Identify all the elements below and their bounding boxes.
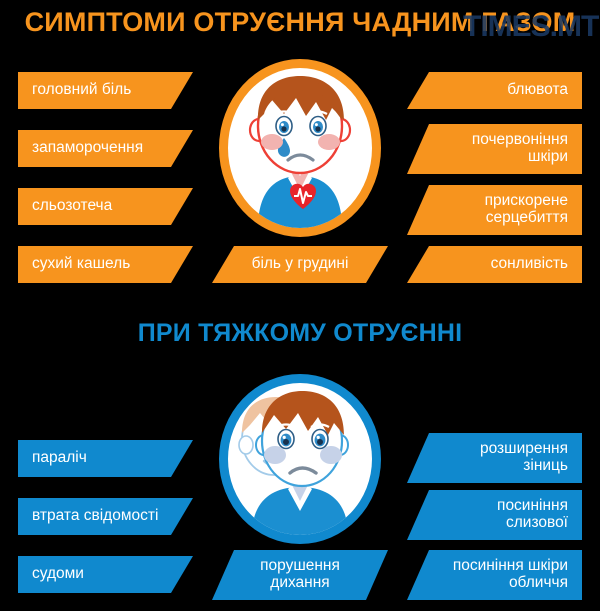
infographic-canvas: СИМПТОМИ ОТРУЄННЯ ЧАДНИМ ГАЗОМ TIMES.MT [0,0,600,611]
symptom-label: почервоніння шкіри [437,132,568,165]
symptom-bar-loss-of-consciousness[interactable]: втрата свідомості [18,498,193,535]
symptom-label: сухий кашель [32,256,163,273]
symptom-label: судоми [32,566,163,583]
symptom-label: головний біль [32,82,163,99]
symptom-bar-dilated-pupils[interactable]: розширення зіниць [407,433,582,483]
symptom-label: блювота [437,82,568,99]
symptom-label: запаморочення [32,140,163,157]
symptom-label: посиніння шкіри обличчя [437,558,568,591]
symptom-bar-skin-redness[interactable]: почервоніння шкіри [407,124,582,174]
fainting-boy-svg [228,383,372,535]
symptom-bar-rapid-heartbeat[interactable]: прискорене серцебиття [407,185,582,235]
symptom-bar-headache[interactable]: головний біль [18,72,193,109]
symptom-bar-lacrimation[interactable]: сльозотеча [18,188,193,225]
section-title-mild: СИМПТОМИ ОТРУЄННЯ ЧАДНИМ ГАЗОМ [0,7,600,38]
symptom-label: сонливість [437,256,568,273]
symptom-label: біль у грудині [234,256,366,273]
symptom-bar-vomiting[interactable]: блювота [407,72,582,109]
symptom-bar-chest-pain[interactable]: біль у грудині [212,246,388,283]
symptom-label: параліч [32,450,163,467]
symptom-bar-convulsions[interactable]: судоми [18,556,193,593]
fainting-boy-icon [219,374,381,544]
symptom-label: втрата свідомості [32,508,163,525]
symptom-label: розширення зіниць [437,441,568,474]
sad-boy-chest-pain-icon [219,59,381,237]
section-title-severe: ПРИ ТЯЖКОМУ ОТРУЄННІ [0,319,600,348]
symptom-label: посиніння слизової [437,498,568,531]
sad-boy-svg [228,68,372,228]
symptom-bar-mucosa-cyanosis[interactable]: посиніння слизової [407,490,582,540]
symptom-label: сльозотеча [32,198,163,215]
symptom-label: прискорене серцебиття [437,193,568,226]
symptom-bar-dry-cough[interactable]: сухий кашель [18,246,193,283]
symptom-bar-dizziness[interactable]: запаморочення [18,130,193,167]
symptom-bar-drowsiness[interactable]: сонливість [407,246,582,283]
illustration-clip-mild [228,68,372,228]
symptom-label: порушення дихання [234,558,366,591]
symptom-bar-face-skin-cyanosis[interactable]: посиніння шкіри обличчя [407,550,582,600]
symptom-bar-paralysis[interactable]: параліч [18,440,193,477]
symptom-bar-breathing-disorder[interactable]: порушення дихання [212,550,388,600]
illustration-clip-severe [228,383,372,535]
